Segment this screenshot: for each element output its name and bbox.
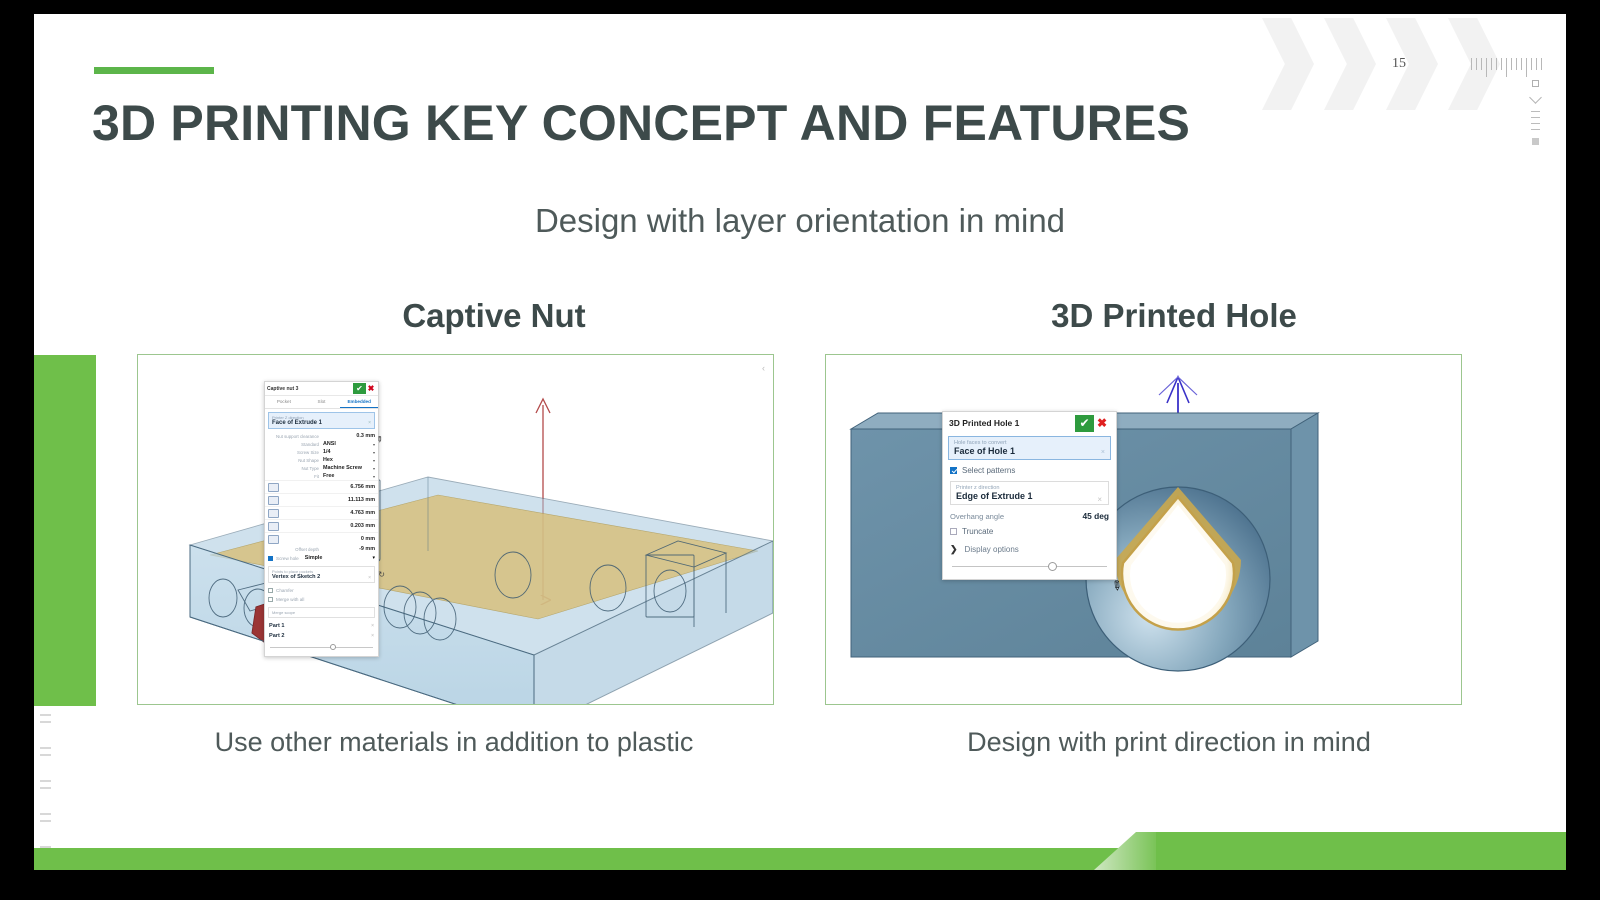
caption-captive-nut: Use other materials in addition to plast…	[134, 727, 774, 758]
refresh-icon[interactable]: ↻	[378, 570, 385, 579]
measurement-row: 0.203 mm	[265, 519, 378, 532]
merge-with-all-row[interactable]: Merge with all	[265, 595, 378, 604]
screw-hole-value: Simple	[305, 555, 373, 561]
clear-points-icon[interactable]: ×	[368, 575, 371, 581]
field-screw-size[interactable]: Screw Size 1/4 ▾	[265, 448, 378, 456]
offset-depth-label: Offset depth	[268, 547, 323, 552]
dialog-title: Captive nut 3	[267, 386, 353, 392]
captive-nut-dialog[interactable]: Captive nut 3 ✔ ✖ Pocket Slot Embedded P…	[264, 381, 379, 657]
chevron-down-icon[interactable]: ▾	[369, 442, 375, 447]
chamfer-label: Chamfer	[276, 588, 294, 593]
title-accent-rule	[94, 67, 214, 74]
chevron-right-icon[interactable]: ❯	[950, 544, 958, 555]
merge-with-all-checkbox[interactable]	[268, 597, 273, 602]
chevron-down-icon[interactable]: ▾	[369, 458, 375, 463]
viewport-corner-marker: ‹	[762, 363, 765, 373]
field-nut-shape-label: Nut Shape	[268, 458, 323, 463]
points-to-place-pockets-group[interactable]: Points to place pockets Vertex of Sketch…	[268, 566, 375, 583]
field-nut-shape[interactable]: Nut Shape Hex ▾	[265, 456, 378, 464]
dialog-title: 3D Printed Hole 1	[949, 418, 1075, 428]
measurement-row: 11.113 mm	[265, 493, 378, 506]
tab-pocket[interactable]: Pocket	[265, 396, 303, 408]
measurement-value: 0.203 mm	[279, 523, 375, 529]
screw-hole-row[interactable]: Screw hole Simple ▾	[265, 553, 378, 563]
image-captive-nut: Captive nut 3 ✔ ✖ Pocket Slot Embedded P…	[137, 354, 774, 705]
slide-canvas: 15 3D PRINTING KEY CONCEPT AND FEATURES …	[34, 14, 1566, 870]
offset-depth-value: -9 mm	[323, 546, 375, 552]
confirm-button[interactable]: ✔	[353, 383, 366, 394]
measurement-value: 4.763 mm	[279, 510, 375, 516]
offset-depth-row[interactable]: Offset depth -9 mm	[265, 545, 378, 553]
field-standard-label: Standard	[268, 442, 323, 447]
field-fit[interactable]: Fit Free ▾	[265, 472, 378, 480]
screw-hole-label: Screw hole	[276, 556, 299, 561]
merge-scope-item[interactable]: Part 1 ×	[265, 621, 378, 631]
select-patterns-checkbox[interactable]	[950, 467, 957, 474]
bottom-green-stripe	[34, 824, 1566, 870]
select-patterns-row[interactable]: Select patterns	[943, 462, 1116, 479]
screw-hole-checkbox[interactable]	[268, 556, 273, 561]
depth-icon	[268, 535, 279, 544]
hole-faces-value: Face of Hole 1	[954, 446, 1105, 456]
hole-faces-selection[interactable]: Hole faces to convert Face of Hole 1 ×	[948, 436, 1111, 460]
chamfer-row[interactable]: Chamfer	[265, 586, 378, 595]
overhang-angle-label: Overhang angle	[950, 512, 1082, 521]
dialog-header: 3D Printed Hole 1 ✔ ✖	[943, 412, 1116, 434]
merge-with-all-label: Merge with all	[276, 597, 304, 602]
hex-nut-icon	[268, 496, 279, 505]
confirm-button[interactable]: ✔	[1075, 415, 1094, 432]
slider-handle[interactable]	[1048, 562, 1057, 571]
measurement-value: 0 mm	[279, 536, 375, 542]
merge-scope-group: Merge scope	[268, 607, 375, 618]
image-printed-hole: 3D Printed Hole 1 ✔ ✖ Hole faces to conv…	[825, 354, 1462, 705]
merge-scope-item-label: Part 1	[269, 623, 285, 629]
captive-nut-3d-view	[138, 355, 774, 705]
display-options-label: Display options	[965, 545, 1019, 554]
field-nut-type-value: Machine Screw	[323, 465, 369, 471]
square-icon	[1532, 80, 1539, 87]
printer-z-direction-group[interactable]: Printer z direction Edge of Extrude 1 × …	[950, 481, 1109, 505]
field-fit-value: Free	[323, 473, 369, 479]
page-title: 3D PRINTING KEY CONCEPT AND FEATURES	[92, 94, 1190, 152]
slider-handle[interactable]	[330, 644, 336, 650]
subtitle: Design with layer orientation in mind	[34, 202, 1566, 240]
caption-printed-hole: Design with print direction in mind	[824, 727, 1514, 758]
field-standard-value: ANSI	[323, 441, 369, 447]
width-icon	[268, 483, 279, 492]
merge-scope-label: Merge scope	[272, 610, 371, 615]
measurement-value: 11.113 mm	[279, 497, 375, 503]
page-number: 15	[1392, 56, 1406, 72]
chevron-down-icon[interactable]: ▾	[369, 450, 375, 455]
opacity-slider[interactable]	[952, 560, 1107, 574]
truncate-checkbox[interactable]	[950, 528, 957, 535]
dialog-tabs: Pocket Slot Embedded	[265, 396, 378, 409]
cancel-button[interactable]: ✖	[1094, 416, 1110, 430]
printer-z-direction-value: Edge of Extrude 1	[956, 491, 1103, 501]
display-options-row[interactable]: ❯ Display options	[943, 540, 1116, 559]
clear-printer-z-icon[interactable]: ×	[1097, 495, 1102, 504]
nut-support-clearance-row: Nut support clearance 0.3 mm	[265, 432, 378, 440]
field-screw-size-label: Screw Size	[268, 450, 323, 455]
clear-hole-faces-icon[interactable]: ×	[1101, 449, 1105, 456]
heading-captive-nut: Captive Nut	[284, 297, 704, 335]
chevron-down-icon[interactable]: ▾	[369, 474, 375, 479]
remove-icon[interactable]: ×	[371, 633, 374, 639]
printer-z-direction-value: Face of Extrude 1	[272, 420, 371, 426]
heading-printed-hole: 3D Printed Hole	[934, 297, 1414, 335]
slide-root: 15 3D PRINTING KEY CONCEPT AND FEATURES …	[0, 0, 1600, 900]
ruler-ticks-horizontal	[1471, 58, 1542, 77]
chevron-down-icon	[1529, 91, 1542, 104]
remove-icon[interactable]: ×	[371, 623, 374, 629]
field-standard[interactable]: Standard ANSI ▾	[265, 440, 378, 448]
truncate-label: Truncate	[962, 527, 993, 536]
field-nut-shape-value: Hex	[323, 457, 369, 463]
ruler-ticks-vertical	[1531, 80, 1540, 145]
dialog-header: Captive nut 3 ✔ ✖	[265, 382, 378, 396]
measurement-value: 6.756 mm	[279, 484, 375, 490]
filled-square-icon	[1532, 138, 1539, 145]
tab-embedded[interactable]: Embedded	[340, 396, 378, 408]
merge-scope-item-label: Part 2	[269, 633, 285, 639]
field-screw-size-value: 1/4	[323, 449, 369, 455]
measurement-row: 4.763 mm	[265, 506, 378, 519]
printed-hole-3d-view	[826, 355, 1462, 705]
thickness-icon	[268, 509, 279, 518]
tab-slot[interactable]: Slot	[303, 396, 341, 408]
printer-z-direction-selection[interactable]: Printer Z direction Face of Extrude 1 × …	[268, 412, 375, 429]
field-fit-label: Fit	[268, 474, 323, 479]
nut-support-clearance-value: 0.3 mm	[323, 433, 375, 439]
field-nut-type-label: Nut Type	[268, 466, 323, 471]
opacity-slider[interactable]	[270, 643, 373, 653]
points-value: Vertex of Sketch 2	[272, 574, 371, 580]
measurement-row: 0 mm	[265, 532, 378, 545]
clearance-icon	[268, 522, 279, 531]
chevron-down-icon[interactable]: ▾	[369, 466, 375, 471]
printed-hole-dialog[interactable]: 3D Printed Hole 1 ✔ ✖ Hole faces to conv…	[942, 411, 1117, 580]
left-green-bar	[34, 355, 96, 706]
chevron-down-icon[interactable]: ▾	[372, 555, 375, 561]
field-nut-type[interactable]: Nut Type Machine Screw ▾	[265, 464, 378, 472]
chamfer-checkbox[interactable]	[268, 588, 273, 593]
truncate-row[interactable]: Truncate	[943, 523, 1116, 540]
cancel-button[interactable]: ✖	[366, 384, 376, 393]
nut-support-clearance-label: Nut support clearance	[268, 434, 323, 439]
merge-scope-item[interactable]: Part 2 ×	[265, 631, 378, 641]
overhang-angle-row[interactable]: Overhang angle 45 deg	[943, 509, 1116, 523]
overhang-angle-value: 45 deg	[1082, 511, 1109, 521]
clear-selection-icon[interactable]: ×	[368, 420, 371, 426]
measurement-row: 6.756 mm	[265, 480, 378, 493]
select-patterns-label: Select patterns	[962, 466, 1015, 475]
